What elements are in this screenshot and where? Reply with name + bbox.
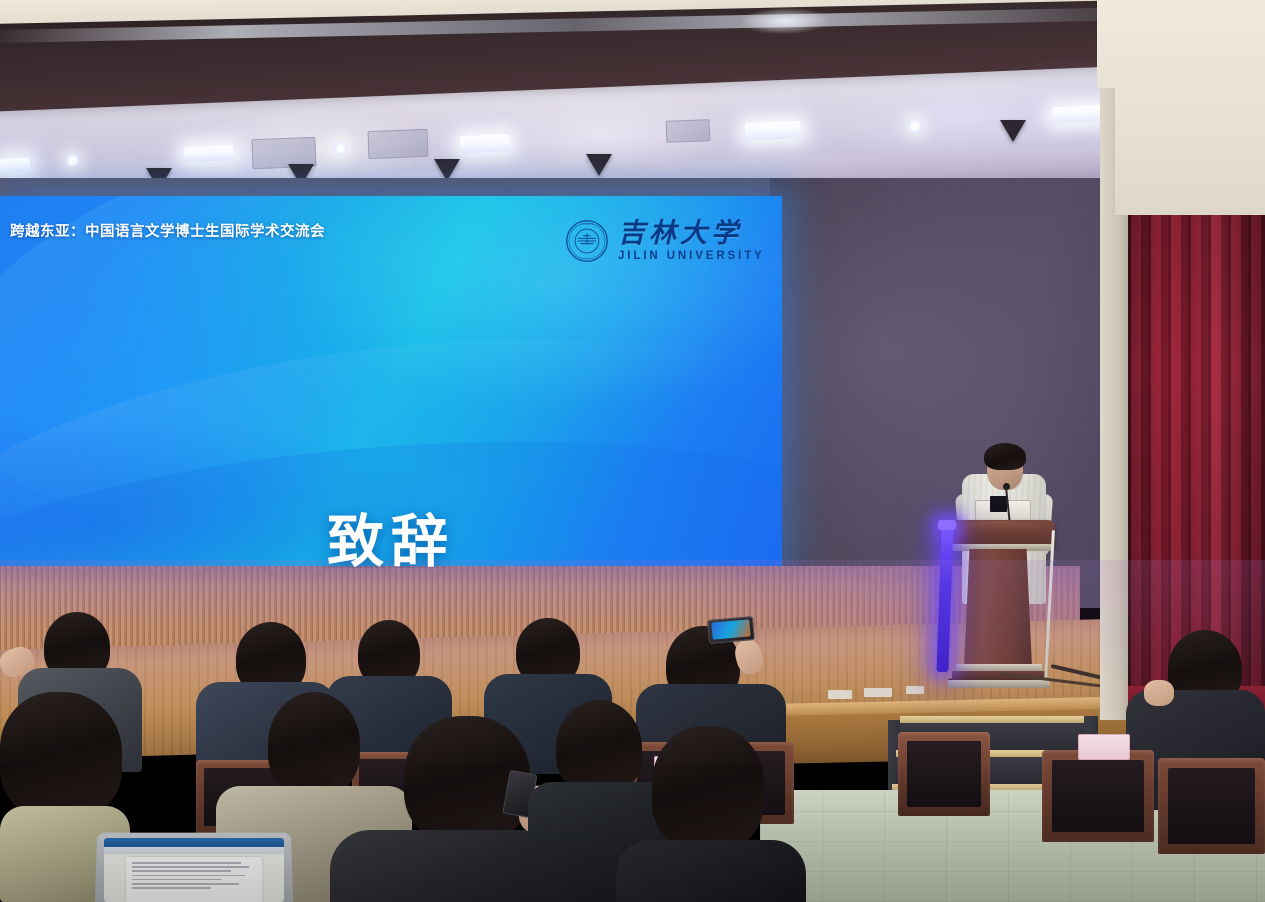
ceiling-vent-panel bbox=[666, 119, 711, 143]
stage-floor-object bbox=[828, 690, 852, 699]
smartphone-screen bbox=[711, 619, 750, 639]
ceiling-rect-light bbox=[184, 145, 235, 162]
ceiling-round-light bbox=[334, 142, 347, 155]
logo-english-name: JILIN UNIVERSITY bbox=[618, 251, 765, 263]
audience-head bbox=[652, 726, 764, 850]
podium-base-trim bbox=[956, 664, 1042, 671]
auditorium-scene: 跨越东亚：中国语言文学博士生国际学术交流会 致辞 张丛皞 吉林大学文学院暨新闻与… bbox=[0, 0, 1265, 902]
auditorium-seat[interactable] bbox=[1158, 758, 1265, 854]
speaker-hair bbox=[984, 443, 1026, 470]
logo-chinese-name: 吉林大学 bbox=[618, 220, 765, 247]
ceiling-rect-light bbox=[745, 121, 802, 140]
ceiling-vent-panel bbox=[367, 129, 428, 159]
podium-led-cap bbox=[938, 520, 956, 530]
ceiling-rect-light bbox=[460, 134, 511, 153]
ceiling-round-light bbox=[908, 119, 922, 133]
ceiling-right-wall-upper bbox=[1097, 0, 1137, 88]
audience-hand bbox=[1144, 680, 1174, 706]
slide-title: 致辞 bbox=[0, 496, 782, 568]
laptop-screen bbox=[104, 838, 284, 902]
podium-device-screen bbox=[990, 496, 1007, 512]
audience-head bbox=[0, 692, 122, 818]
svg-text:★ ★ ★ ★ ★: ★ ★ ★ ★ ★ bbox=[580, 222, 595, 226]
svg-text:▪ ▪ ▪ ▪ ▪: ▪ ▪ ▪ ▪ ▪ bbox=[583, 257, 590, 260]
podium-base-plinth bbox=[948, 680, 1050, 688]
logo-text-block: 吉林大学 JILIN UNIVERSITY bbox=[618, 220, 765, 263]
seat-name-card bbox=[1078, 734, 1130, 760]
stage-floor-object bbox=[906, 686, 924, 694]
ceiling-round-light bbox=[66, 154, 79, 167]
ceiling-right-wall bbox=[1115, 0, 1265, 215]
jilin-university-logo: ★ ★ ★ ★ ★ ▪ ▪ ▪ ▪ ▪ 吉林大学 JILIN UNIVERSIT… bbox=[565, 213, 780, 269]
laptop-toolbar bbox=[104, 847, 284, 854]
microphone-head-icon bbox=[1003, 483, 1010, 490]
soffit-light-reflection bbox=[740, 7, 831, 35]
auditorium-seat[interactable] bbox=[898, 732, 990, 816]
jilin-university-seal-icon: ★ ★ ★ ★ ★ ▪ ▪ ▪ ▪ ▪ bbox=[565, 219, 609, 263]
podium-body bbox=[964, 549, 1032, 667]
ceiling-rect-light bbox=[0, 157, 30, 172]
slide-header-banner: 跨越东亚：中国语言文学博士生国际学术交流会 bbox=[10, 220, 325, 241]
ceiling-speaker-icon bbox=[1000, 120, 1026, 142]
auditorium-seat[interactable] bbox=[1042, 750, 1154, 842]
audience-torso bbox=[616, 840, 806, 902]
ceiling-speaker-icon bbox=[586, 154, 612, 176]
stage-floor-object bbox=[864, 688, 892, 697]
laptop-titlebar bbox=[104, 838, 284, 847]
laptop-document-page bbox=[126, 857, 262, 902]
